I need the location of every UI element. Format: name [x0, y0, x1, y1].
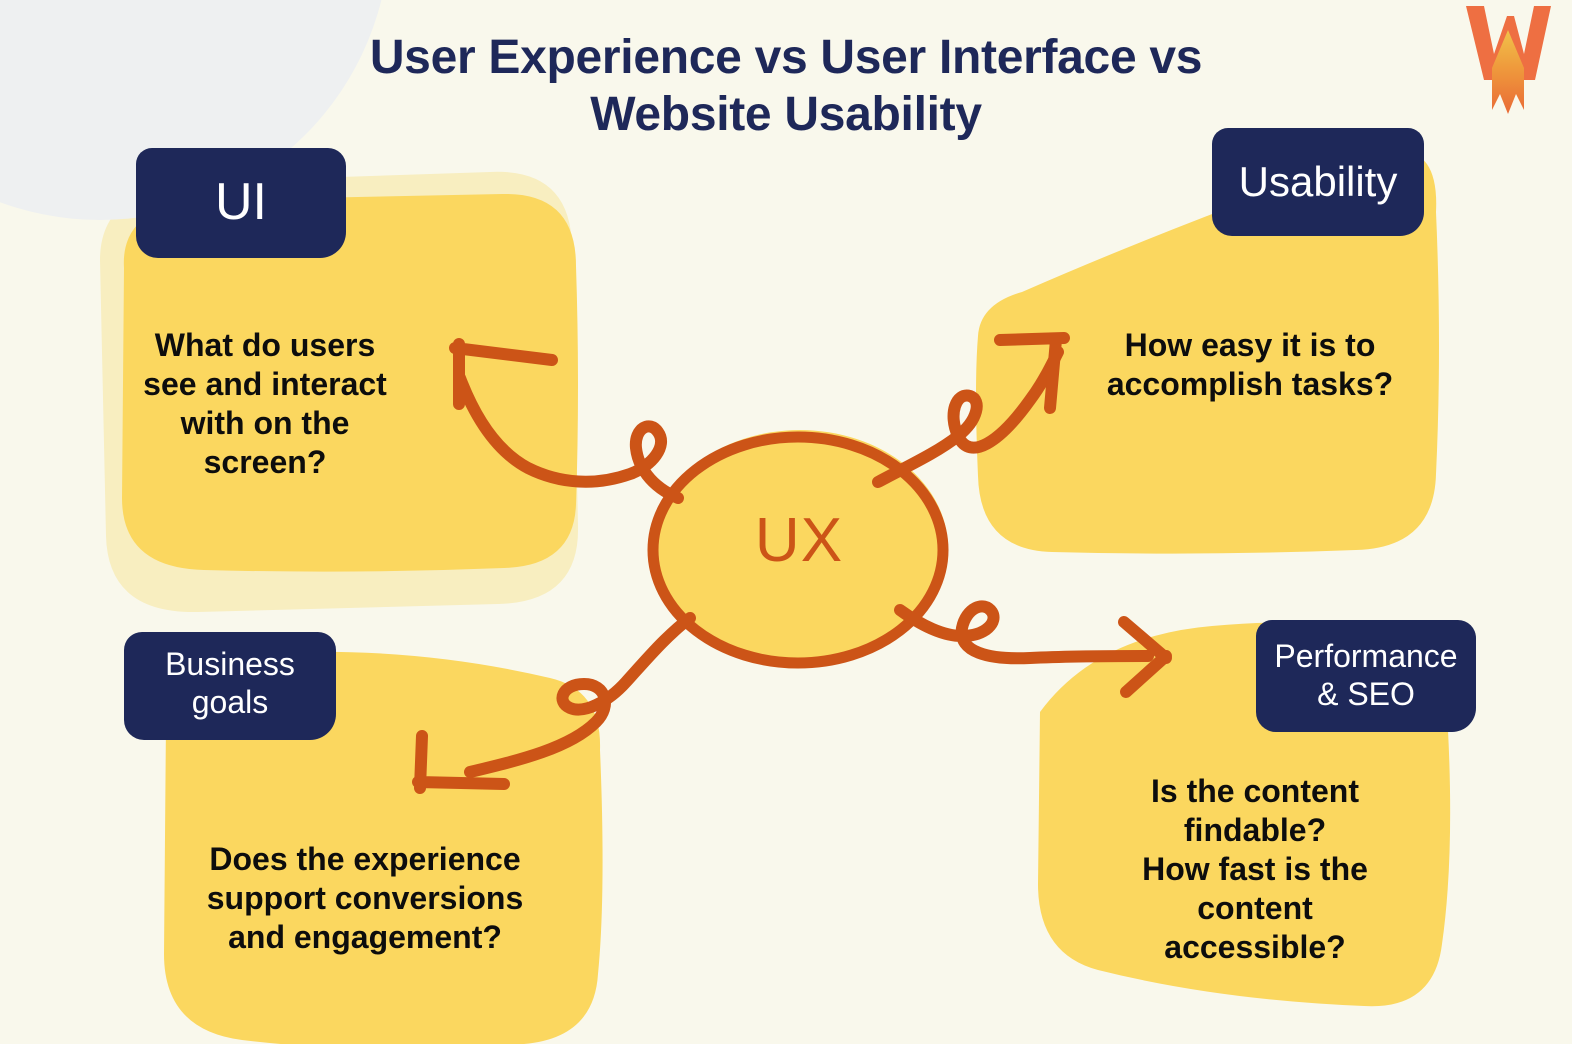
page-title-line-2: Website Usability	[286, 87, 1286, 144]
card-text-business: Does the experience support conversions …	[170, 840, 560, 957]
card-text-usability: How easy it is to accomplish tasks?	[1080, 326, 1420, 404]
card-text-performance: Is the content findable? How fast is the…	[1100, 772, 1410, 967]
badge-business[interactable]: Business goals	[124, 632, 336, 740]
page-title-line-1: User Experience vs User Interface vs	[286, 30, 1286, 87]
page-title: User Experience vs User Interface vs Web…	[286, 30, 1286, 143]
badge-usability[interactable]: Usability	[1212, 128, 1424, 236]
badge-ui[interactable]: UI	[136, 148, 346, 258]
card-text-ui: What do users see and interact with on t…	[110, 326, 420, 482]
w-flame-logo	[1462, 2, 1554, 117]
ux-center-label: UX	[644, 505, 954, 576]
badge-performance-seo[interactable]: Performance & SEO	[1256, 620, 1476, 732]
infographic-canvas: User Experience vs User Interface vs Web…	[0, 0, 1572, 1044]
